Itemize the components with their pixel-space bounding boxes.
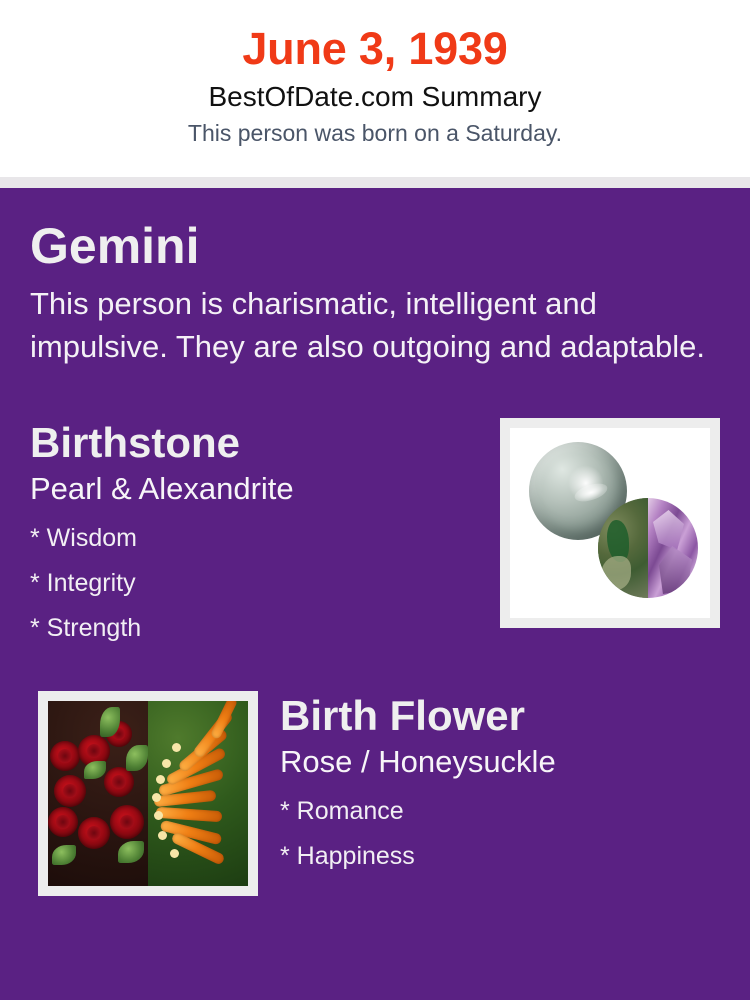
birthstone-photo-pearl-alexandrite bbox=[510, 428, 710, 618]
birth-day-of-week-note: This person was born on a Saturday. bbox=[0, 116, 750, 150]
birth-flower-photo-frame bbox=[38, 691, 258, 896]
list-item: * Integrity bbox=[30, 561, 500, 606]
birth-flower-trait-list: * Romance * Happiness bbox=[280, 789, 720, 879]
birthstone-text-block: Birthstone Pearl & Alexandrite * Wisdom … bbox=[30, 418, 500, 651]
birthstone-trait-list: * Wisdom * Integrity * Strength bbox=[30, 516, 500, 651]
rose-icon bbox=[54, 775, 86, 807]
leaf-icon bbox=[126, 745, 148, 771]
honeysuckle-photo-half bbox=[148, 701, 248, 886]
page-title-date: June 3, 1939 bbox=[0, 20, 750, 78]
zodiac-sign-name: Gemini bbox=[30, 216, 720, 276]
rose-icon bbox=[48, 807, 78, 837]
birthstone-photo-frame bbox=[500, 418, 720, 628]
alexandrite-gem-icon bbox=[598, 498, 698, 598]
alexandrite-rough-half bbox=[598, 498, 648, 598]
rose-icon bbox=[110, 805, 144, 839]
list-item: * Wisdom bbox=[30, 516, 500, 561]
leaf-icon bbox=[84, 761, 106, 779]
alexandrite-faceted-half bbox=[648, 498, 698, 598]
list-item: * Romance bbox=[280, 789, 720, 834]
honeysuckle-bud-icon bbox=[170, 849, 179, 858]
birth-flower-photo-rose-honeysuckle bbox=[48, 701, 248, 886]
page-header: June 3, 1939 BestOfDate.com Summary This… bbox=[0, 0, 750, 177]
honeysuckle-bud-icon bbox=[158, 831, 167, 840]
honeysuckle-bud-icon bbox=[156, 775, 165, 784]
leaf-icon bbox=[52, 845, 76, 865]
rose-icon bbox=[50, 741, 80, 771]
zodiac-description: This person is charismatic, intelligent … bbox=[30, 282, 710, 368]
birthstone-value: Pearl & Alexandrite bbox=[30, 468, 500, 510]
leaf-icon bbox=[118, 841, 144, 863]
summary-panel: Gemini This person is charismatic, intel… bbox=[0, 188, 750, 1000]
rose-icon bbox=[78, 817, 110, 849]
birth-flower-value: Rose / Honeysuckle bbox=[280, 741, 720, 783]
site-summary-label: BestOfDate.com Summary bbox=[0, 78, 750, 116]
honeysuckle-bud-icon bbox=[172, 743, 181, 752]
honeysuckle-bud-icon bbox=[152, 793, 161, 802]
zodiac-section: Gemini This person is charismatic, intel… bbox=[0, 188, 750, 368]
list-item: * Happiness bbox=[280, 834, 720, 879]
honeysuckle-bud-icon bbox=[154, 811, 163, 820]
birthstone-heading: Birthstone bbox=[30, 418, 500, 468]
birth-flower-section: Birth Flower Rose / Honeysuckle * Romanc… bbox=[0, 691, 750, 896]
birth-flower-text-block: Birth Flower Rose / Honeysuckle * Romanc… bbox=[258, 691, 720, 879]
rose-icon bbox=[104, 767, 134, 797]
red-roses-photo-half bbox=[48, 701, 148, 886]
birthstone-section: Birthstone Pearl & Alexandrite * Wisdom … bbox=[0, 418, 750, 651]
list-item: * Strength bbox=[30, 606, 500, 651]
header-divider bbox=[0, 177, 750, 188]
honeysuckle-bud-icon bbox=[162, 759, 171, 768]
birth-flower-heading: Birth Flower bbox=[280, 691, 720, 741]
